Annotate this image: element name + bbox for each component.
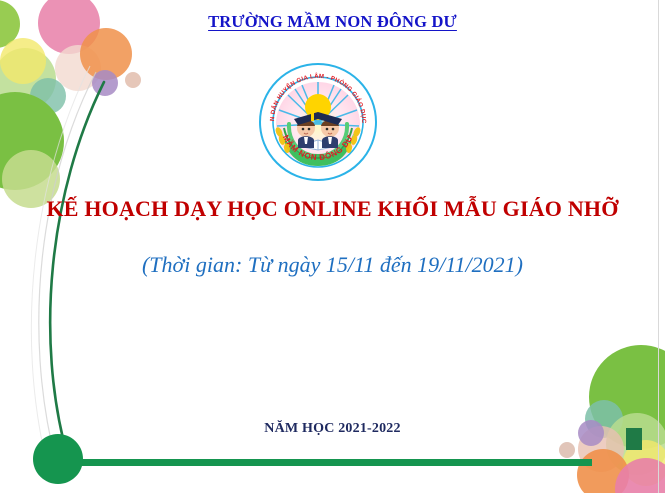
right-border-rule: [658, 0, 659, 493]
school-year-label: NĂM HỌC 2021-2022: [0, 421, 665, 437]
date-range-subtitle: (Thời gian: Từ ngày 15/11 đến 19/11/2021…: [0, 252, 665, 278]
school-emblem-svg: ỦY BAN NHÂN DÂN HUYỆN GIA LÂM - PHÒNG GI…: [258, 62, 378, 182]
school-logo: ỦY BAN NHÂN DÂN HUYỆN GIA LÂM - PHÒNG GI…: [258, 62, 378, 182]
school-name-header: TRƯỜNG MẦM NON ĐÔNG DƯ: [0, 12, 665, 32]
page-title: KẾ HOẠCH DẠY HỌC ONLINE KHỐI MẪU GIÁO NH…: [0, 196, 665, 222]
slide-page: TRƯỜNG MẦM NON ĐÔNG DƯ: [0, 0, 665, 493]
